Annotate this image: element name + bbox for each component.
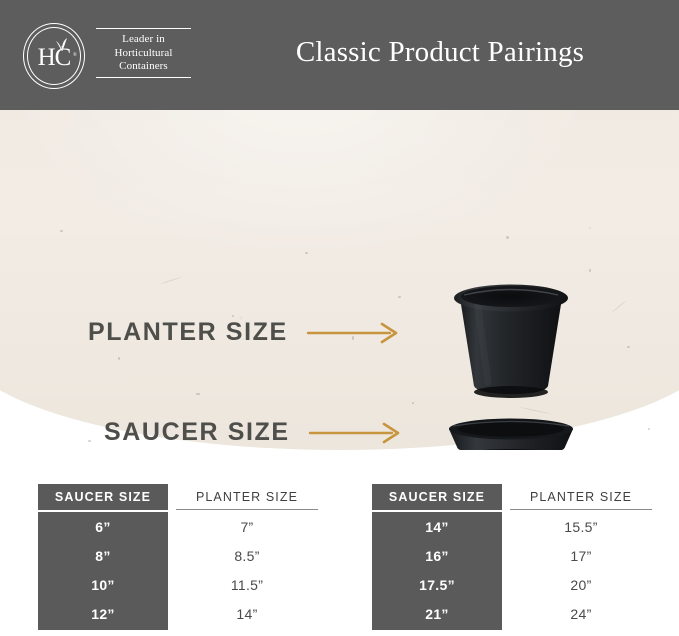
arrow-right-icon bbox=[308, 421, 404, 445]
table-row: 21” 24” bbox=[372, 599, 652, 628]
cell-saucer-size: 12” bbox=[38, 606, 168, 622]
cell-planter-size: 17” bbox=[510, 548, 652, 564]
texture-speck bbox=[412, 402, 414, 404]
texture-speck bbox=[648, 428, 650, 430]
column-header-planter-size: PLANTER SIZE bbox=[176, 484, 318, 510]
logo-rule-bottom bbox=[96, 77, 191, 78]
texture-speck bbox=[118, 357, 120, 360]
column-header-saucer-size: SAUCER SIZE bbox=[372, 484, 502, 510]
cell-saucer-size: 21” bbox=[372, 606, 502, 622]
cell-planter-size: 7” bbox=[176, 519, 318, 535]
texture-speck bbox=[196, 393, 200, 395]
brand-logo: HC ® Leader in Horticultural Containers bbox=[23, 23, 193, 89]
table-row: 17.5” 20” bbox=[372, 570, 652, 599]
size-table-large: SAUCER SIZE PLANTER SIZE 14” 15.5” 16” 1… bbox=[372, 484, 652, 632]
logo-tagline-line-2: Horticultural bbox=[96, 47, 191, 61]
arrow-right-icon bbox=[306, 321, 402, 345]
cell-planter-size: 11.5” bbox=[176, 577, 318, 593]
cell-saucer-size: 17.5” bbox=[372, 577, 502, 593]
logo-tagline-line-1: Leader in bbox=[96, 33, 191, 47]
page-title: Classic Product Pairings bbox=[220, 36, 660, 69]
saucer-size-label: SAUCER SIZE bbox=[104, 418, 290, 447]
texture-speck bbox=[60, 230, 63, 232]
table-row: 16” 17” bbox=[372, 541, 652, 570]
planter-size-callout: PLANTER SIZE bbox=[88, 318, 402, 347]
cell-planter-size: 8.5” bbox=[176, 548, 318, 564]
column-header-saucer-size: SAUCER SIZE bbox=[38, 484, 168, 510]
texture-speck bbox=[627, 346, 630, 348]
texture-speck bbox=[305, 252, 308, 254]
logo-tagline-line-3: Containers bbox=[96, 60, 191, 74]
black-planter-pot bbox=[450, 282, 572, 400]
table-row: 8” 8.5” bbox=[38, 541, 318, 570]
table-row: 10” 11.5” bbox=[38, 570, 318, 599]
cell-saucer-size: 8” bbox=[38, 548, 168, 564]
cell-saucer-size: 6” bbox=[38, 519, 168, 535]
hero-section: PLANTER SIZE SAUCER SIZE bbox=[0, 110, 679, 450]
cell-saucer-size: 14” bbox=[372, 519, 502, 535]
table-body: 6” 7” 8” 8.5” 10” 11.5” 12” 14” bbox=[38, 510, 318, 632]
texture-speck bbox=[506, 236, 509, 239]
table-row: 14” 15.5” bbox=[372, 512, 652, 541]
table-header-row: SAUCER SIZE PLANTER SIZE bbox=[38, 484, 318, 510]
column-header-planter-size: PLANTER SIZE bbox=[510, 484, 652, 510]
logo-trademark: ® bbox=[73, 53, 77, 58]
table-body: 14” 15.5” 16” 17” 17.5” 20” 21” 24” bbox=[372, 510, 652, 632]
texture-speck bbox=[398, 296, 401, 298]
texture-speck bbox=[232, 315, 234, 317]
cell-saucer-size: 10” bbox=[38, 577, 168, 593]
table-header-row: SAUCER SIZE PLANTER SIZE bbox=[372, 484, 652, 510]
stone-surface-background bbox=[0, 110, 679, 450]
cell-planter-size: 20” bbox=[510, 577, 652, 593]
cell-planter-size: 15.5” bbox=[510, 519, 652, 535]
size-table-small: SAUCER SIZE PLANTER SIZE 6” 7” 8” 8.5” 1… bbox=[38, 484, 318, 632]
cell-planter-size: 24” bbox=[510, 606, 652, 622]
table-row: 6” 7” bbox=[38, 512, 318, 541]
saucer-size-callout: SAUCER SIZE bbox=[104, 418, 404, 447]
cell-planter-size: 14” bbox=[176, 606, 318, 622]
table-row: 12” 14” bbox=[38, 599, 318, 628]
black-plant-saucer bbox=[443, 415, 579, 450]
cell-saucer-size: 16” bbox=[372, 548, 502, 564]
texture-speck bbox=[88, 440, 91, 442]
texture-speck bbox=[589, 269, 591, 272]
planter-size-label: PLANTER SIZE bbox=[88, 318, 288, 347]
logo-tagline: Leader in Horticultural Containers bbox=[96, 28, 191, 78]
logo-monogram: HC bbox=[23, 45, 85, 71]
page-header: HC ® Leader in Horticultural Containers … bbox=[0, 0, 679, 110]
